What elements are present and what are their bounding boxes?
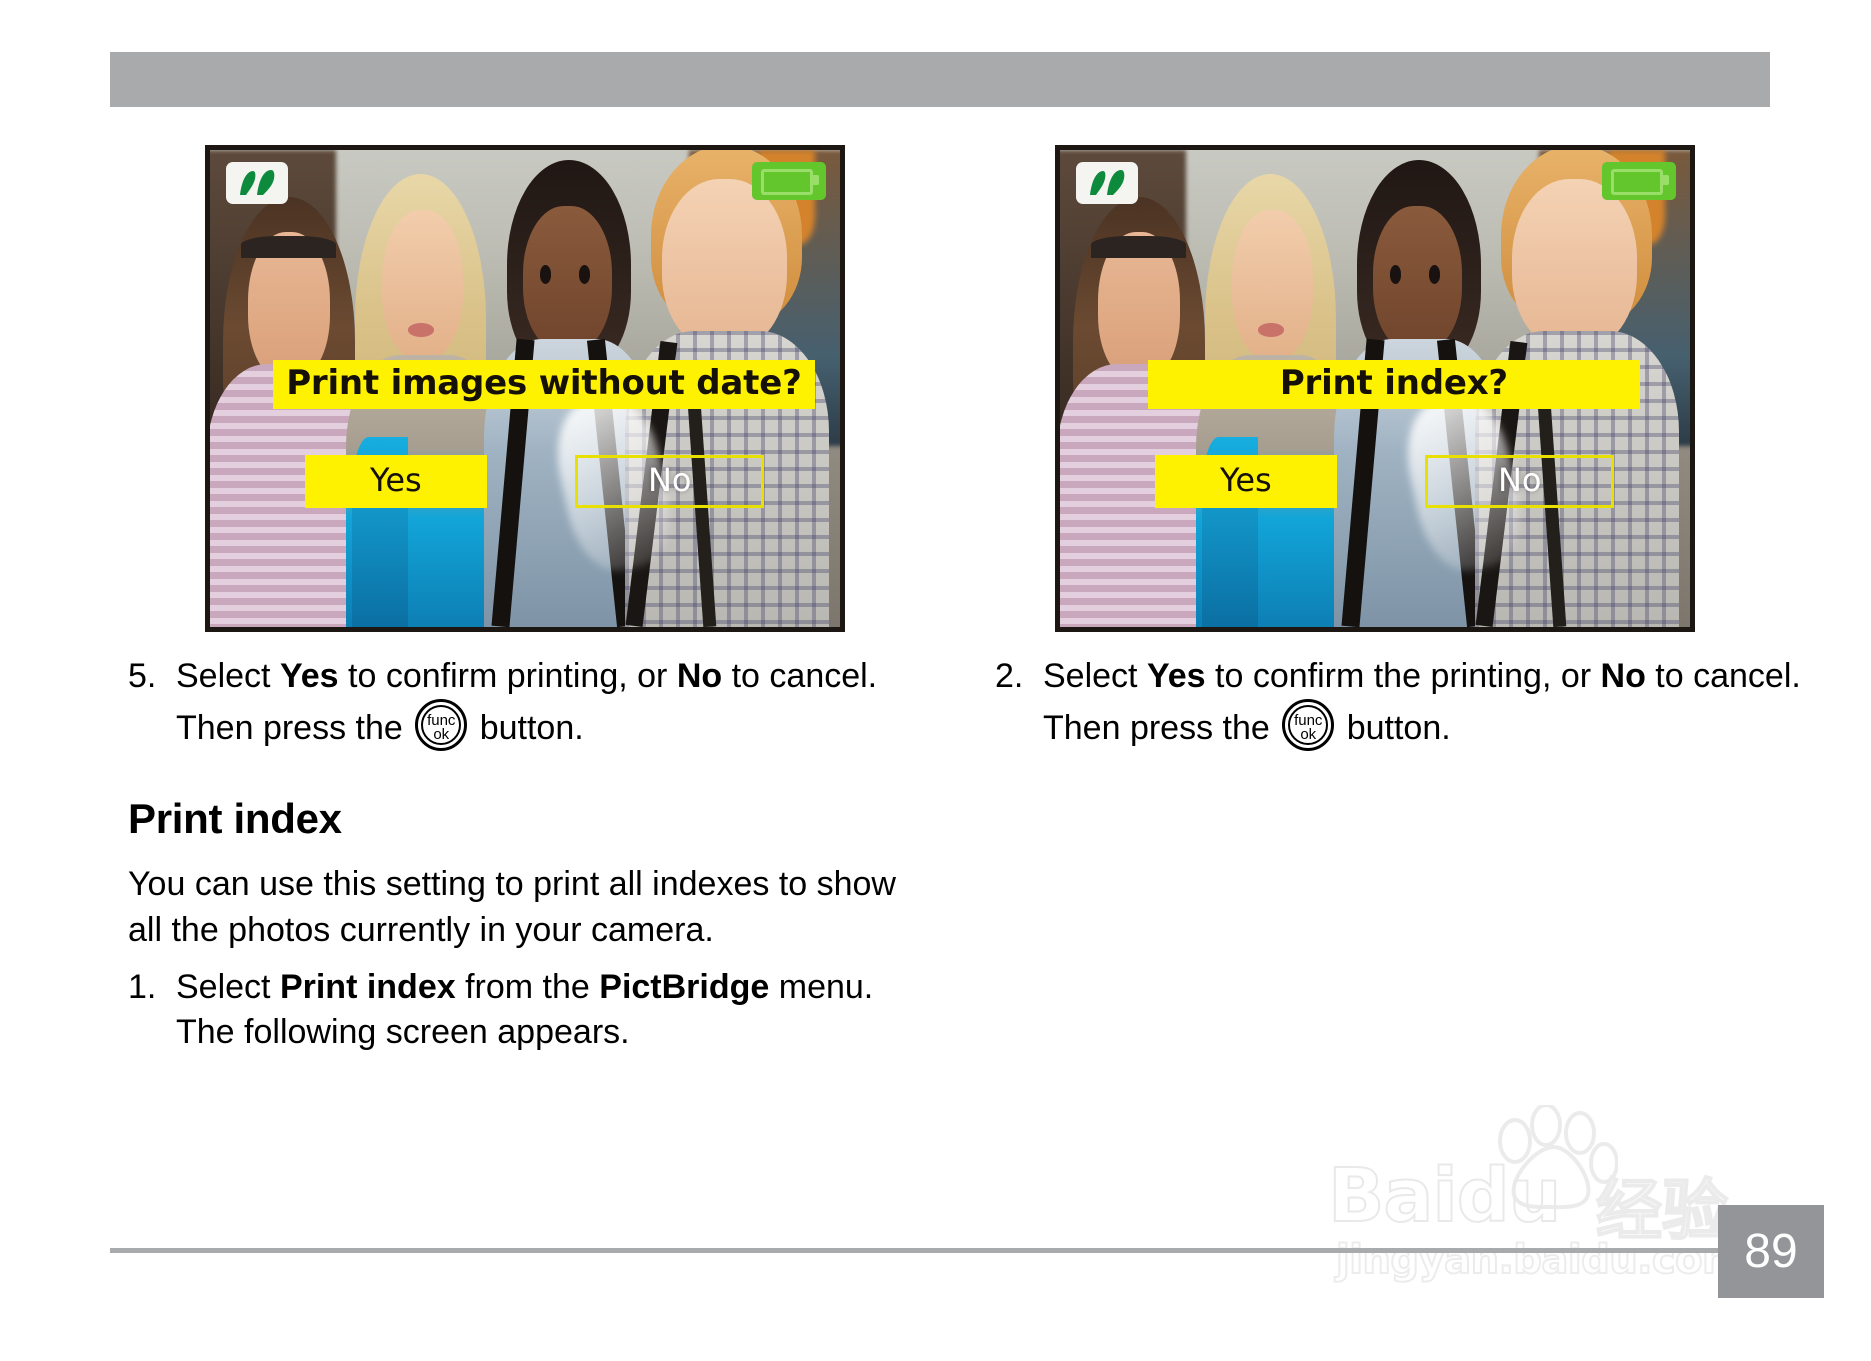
- footer-divider: [110, 1248, 1720, 1253]
- page-number: 89: [1718, 1205, 1824, 1298]
- battery-full-icon: [752, 162, 826, 200]
- paw-print-icon: [1488, 1105, 1618, 1215]
- step-text-end: button.: [1337, 709, 1450, 747]
- baidu-watermark: Baidu 经验 jingyan.baidu.com: [1328, 1115, 1758, 1295]
- ok-label: ok: [418, 727, 464, 742]
- watermark-brand-cn: 经验: [1596, 1157, 1728, 1253]
- step-text: Select Yes to confirm the printing, or N…: [1043, 654, 1805, 751]
- header-band: [110, 52, 1770, 107]
- step-text: Select Print index from the PictBridge m…: [176, 965, 928, 1055]
- left-text-column: 5. Select Yes to confirm printing, or No…: [128, 654, 928, 751]
- dialog-no-button[interactable]: No: [575, 455, 764, 508]
- dialog-title: Print index?: [1148, 360, 1639, 409]
- step-5: 5. Select Yes to confirm printing, or No…: [128, 654, 928, 751]
- step-text-mid: from the: [456, 968, 600, 1006]
- step-text-pre: Select: [176, 657, 280, 695]
- step-emphasis-pictbridge: PictBridge: [599, 968, 769, 1006]
- ok-label: ok: [1285, 727, 1331, 742]
- step-text-mid: to confirm the printing, or: [1206, 657, 1601, 695]
- dialog-yes-button[interactable]: Yes: [305, 455, 488, 508]
- playback-mode-icon: [1076, 162, 1138, 204]
- watermark-url: jingyan.baidu.com: [1336, 1237, 1743, 1283]
- step-text-end: button.: [470, 709, 583, 747]
- step-2: 2. Select Yes to confirm the printing, o…: [995, 654, 1805, 751]
- step-1: 1. Select Print index from the PictBridg…: [128, 965, 928, 1055]
- step-text-pre: Select: [176, 968, 280, 1006]
- func-ok-button-icon: funcok: [1282, 699, 1334, 751]
- manual-page: Print images without date? Yes No: [0, 0, 1871, 1361]
- step-emphasis-print-index: Print index: [280, 968, 456, 1006]
- step-emphasis-yes: Yes: [1147, 657, 1206, 695]
- dialog-title: Print images without date?: [273, 360, 815, 409]
- dialog-yes-button[interactable]: Yes: [1155, 455, 1338, 508]
- section-paragraph: You can use this setting to print all in…: [128, 862, 918, 954]
- camera-screen-print-without-date: Print images without date? Yes No: [205, 145, 845, 632]
- step-text-mid: to confirm printing, or: [339, 657, 677, 695]
- section-heading-print-index: Print index: [128, 795, 342, 843]
- step-number: 5.: [128, 654, 162, 751]
- step-text-pre: Select: [1043, 657, 1147, 695]
- right-text-column: 2. Select Yes to confirm the printing, o…: [995, 654, 1805, 751]
- func-ok-button-icon: funcok: [415, 699, 467, 751]
- step-emphasis-no: No: [1601, 657, 1646, 695]
- step-text: Select Yes to confirm printing, or No to…: [176, 654, 928, 751]
- battery-full-icon: [1602, 162, 1676, 200]
- left-step-list: 1. Select Print index from the PictBridg…: [128, 965, 928, 1055]
- playback-mode-icon: [226, 162, 288, 204]
- step-number: 1.: [128, 965, 162, 1055]
- step-emphasis-yes: Yes: [280, 657, 339, 695]
- dialog-no-button[interactable]: No: [1425, 455, 1614, 508]
- camera-screen-print-index: Print index? Yes No: [1055, 145, 1695, 632]
- step-number: 2.: [995, 654, 1029, 751]
- step-emphasis-no: No: [677, 657, 722, 695]
- watermark-brand: Baidu: [1328, 1153, 1560, 1239]
